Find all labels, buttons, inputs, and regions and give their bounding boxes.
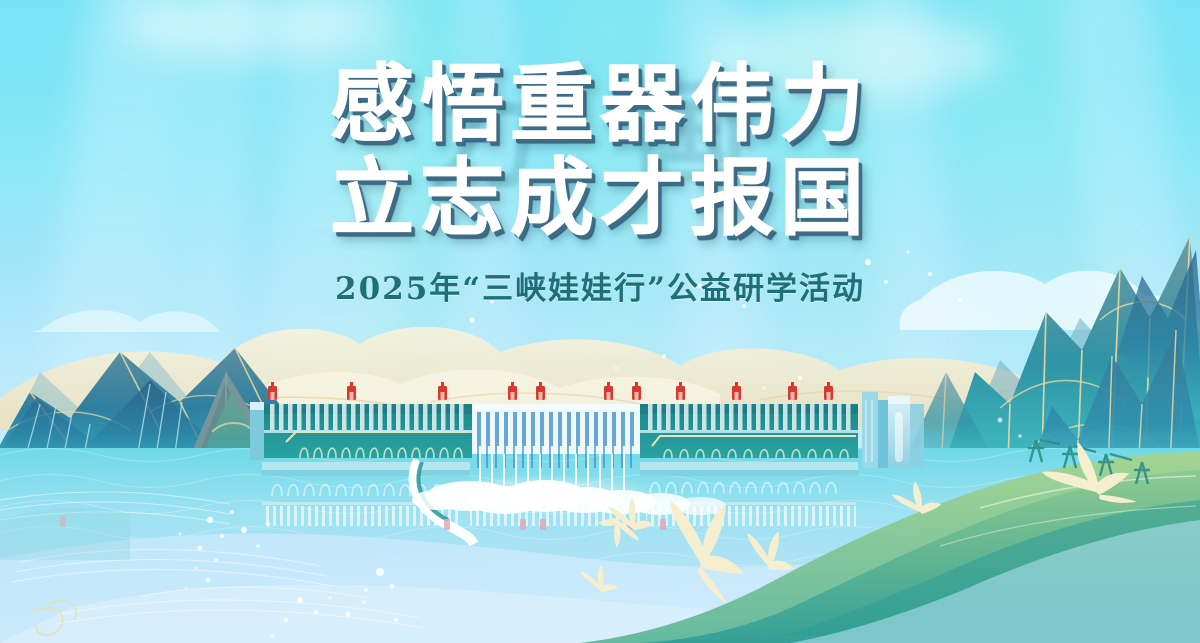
dam-abutment-left (250, 402, 264, 460)
title-block: 感悟重器伟力 立志成才报国 2025年“三峡娃娃行”公益研学活动 (0, 62, 1200, 308)
title-line-1: 感悟重器伟力 (0, 62, 1200, 148)
subtitle: 2025年“三峡娃娃行”公益研学活动 (0, 263, 1200, 308)
banner-poster: 力 国 (0, 0, 1200, 643)
title-line-2: 立志成才报国 (0, 156, 1200, 242)
bank-left (0, 508, 130, 560)
three-gorges-dam (250, 382, 924, 544)
